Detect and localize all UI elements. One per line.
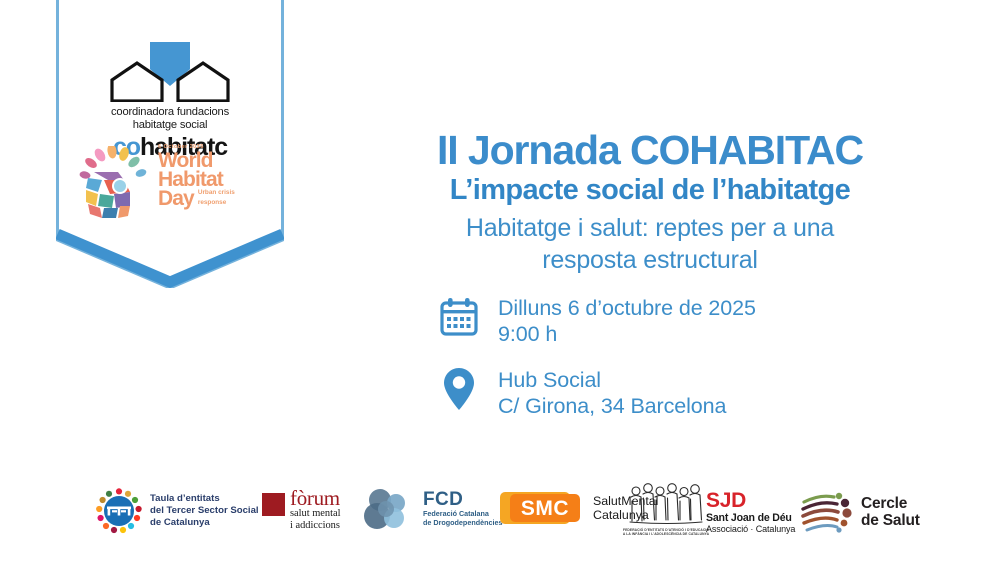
cohabitac-tagline-1: coordinadora fundacions [95,106,245,119]
sjd-line-2: Associació · Catalunya [706,524,795,535]
left-banner: coordinadora fundacions habitatge social… [56,0,284,288]
logo-cercle-de-salut: Cercle de Salut [800,490,920,534]
whd-tagline: Urban crisis response [198,189,235,208]
forum-line-1: salut mental [290,508,341,520]
fcd-wordmark: FCD [423,490,502,510]
page-title: II Jornada COHABITAC [330,128,970,172]
page-subtitle: Habitatge i salut: reptes per a una resp… [330,212,970,276]
event-location-block: Hub Social C/ Girona, 34 Barcelona [438,366,878,419]
cercle-line-2: de Salut [861,512,920,530]
forum-line-2: i addiccions [290,520,341,532]
fcd-text: FCD Federació Catalana de Drogodependènc… [423,490,502,527]
sjd-line-1: Sant Joan de Déu [706,512,792,524]
fcd-line-2: de Drogodependències [423,519,502,528]
logo-forum-salut-mental: fòrum salut mental i addiccions [262,488,341,532]
sjd-wordmark: SJD [706,490,746,512]
page-subtitle-line-2: resposta estructural [330,244,970,276]
logo-taula-entitats: Taula d’entitats del Tercer Sector Socia… [96,488,259,534]
cercle-line-1: Cercle [861,495,920,513]
federacio-caption-2: A LA INFÀNCIA I L’ADOLESCÈNCIA DE CATALU… [620,532,712,536]
logo-sjd: SJD Sant Joan de Déu Associació · Catalu… [706,490,795,535]
whd-line-3: Day [158,189,194,208]
event-poster: coordinadora fundacions habitatge social… [0,0,1000,563]
whd-tagline-1: Urban crisis [198,189,235,199]
cohabitac-houses-icon [107,42,233,102]
partner-logos: Taula d’entitats del Tercer Sector Socia… [0,482,1000,552]
logo-federacio-entitats: FEDERACIÓ D’ENTITATS D’ATENCIÓ I D’EDUCA… [620,482,712,537]
sdg-circle-icon [96,488,142,534]
taula-line-3: de Catalunya [150,517,259,529]
event-location-line-1: Hub Social [498,367,726,393]
forum-wordmark: fòrum [290,488,341,508]
page-subtitle-line-1: Habitatge i salut: reptes per a una [330,212,970,244]
overlapping-circles-icon [364,486,416,532]
event-date-text: Dilluns 6 d’octubre de 2025 9:00 h [498,294,756,347]
cohabitac-tagline-2: habitatge social [95,119,245,132]
event-date-line-1: Dilluns 6 d’octubre de 2025 [498,295,756,321]
event-location-line-2: C/ Girona, 34 Barcelona [498,393,726,419]
page-subtitle-bold: L’impacte social de l’habitatge [330,174,970,207]
taula-line-2: del Tercer Sector Social [150,505,259,517]
forum-text: fòrum salut mental i addiccions [290,488,341,532]
event-location-text: Hub Social C/ Girona, 34 Barcelona [498,366,726,419]
people-group-icon [625,482,707,528]
red-square-icon [262,493,285,516]
smc-wordmark: SMC [512,496,578,521]
calendar-icon [438,294,480,340]
event-date-block: Dilluns 6 d’octubre de 2025 9:00 h [438,294,878,347]
world-habitat-day-text: 6 October 2025 World Habitat Day Urban c… [158,144,264,208]
world-habitat-day-logo: 6 October 2025 World Habitat Day Urban c… [78,138,262,224]
logo-fcd: FCD Federació Catalana de Drogodependènc… [364,486,502,532]
smc-badge-icon: SMC [500,492,584,524]
world-habitat-day-icon [78,146,156,220]
map-pin-icon [438,366,480,412]
cercle-strokes-icon [800,490,854,534]
main-content: II Jornada COHABITAC L’impacte social de… [330,0,970,460]
whd-line-2: Habitat [158,170,264,189]
cercle-text: Cercle de Salut [861,495,920,530]
whd-tagline-2: response [198,199,235,209]
taula-line-1: Taula d’entitats [150,493,259,505]
taula-text: Taula d’entitats del Tercer Sector Socia… [150,493,259,530]
event-date-line-2: 9:00 h [498,321,756,347]
